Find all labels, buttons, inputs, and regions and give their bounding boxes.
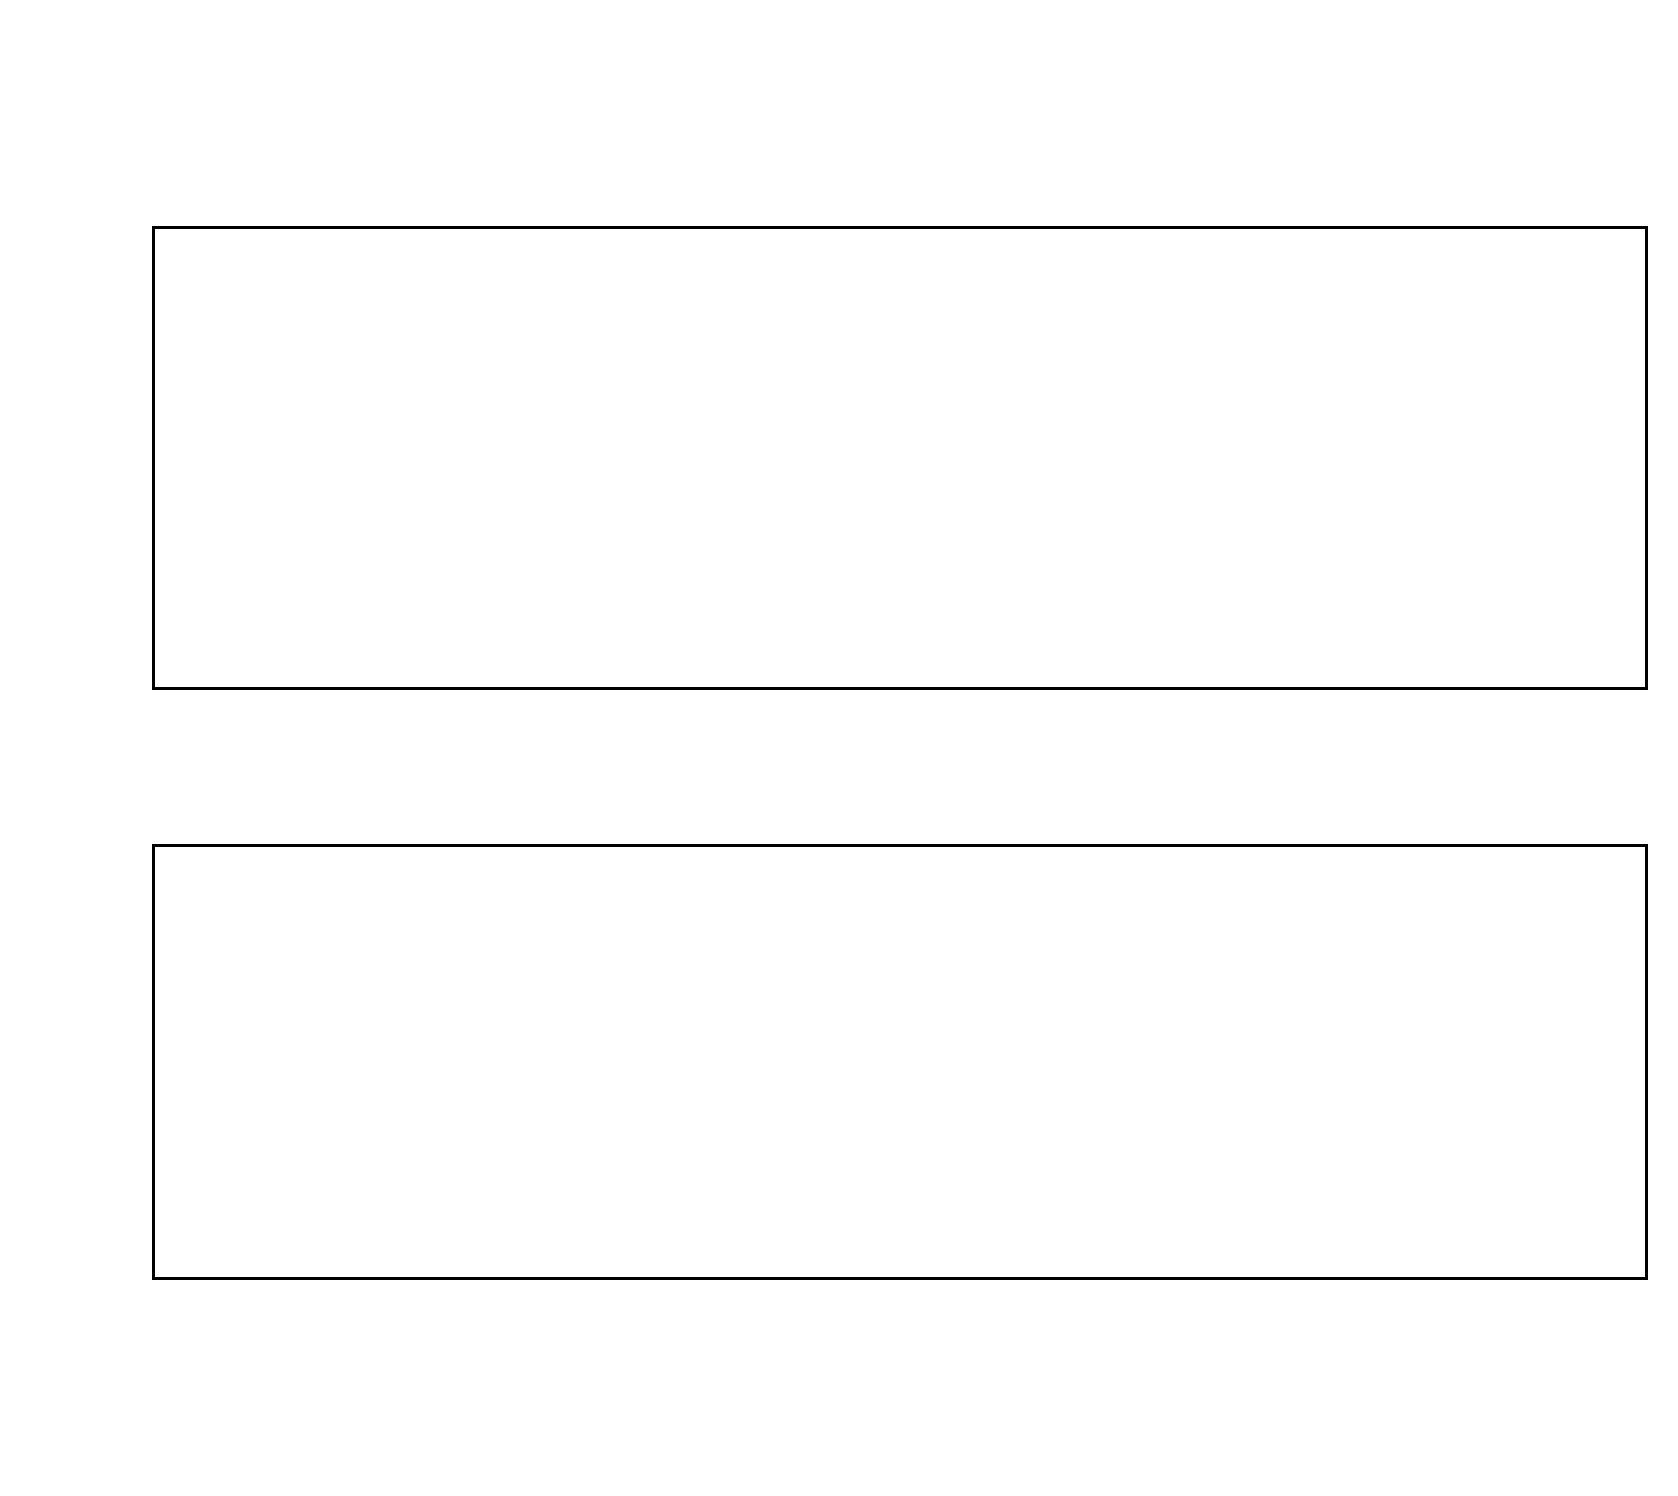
figure-canvas (0, 0, 1678, 1496)
legend (430, 108, 1670, 222)
diff-panel-axes (152, 844, 1648, 1280)
legend-swatch-baseline (430, 192, 492, 200)
legend-entry-test (430, 108, 1670, 152)
top-panel-plot (155, 229, 1645, 687)
diff-panel-plot (155, 847, 1645, 1277)
top-panel-axes (152, 226, 1648, 690)
legend-entry-baseline (430, 152, 1670, 222)
legend-swatch-test (430, 122, 492, 130)
